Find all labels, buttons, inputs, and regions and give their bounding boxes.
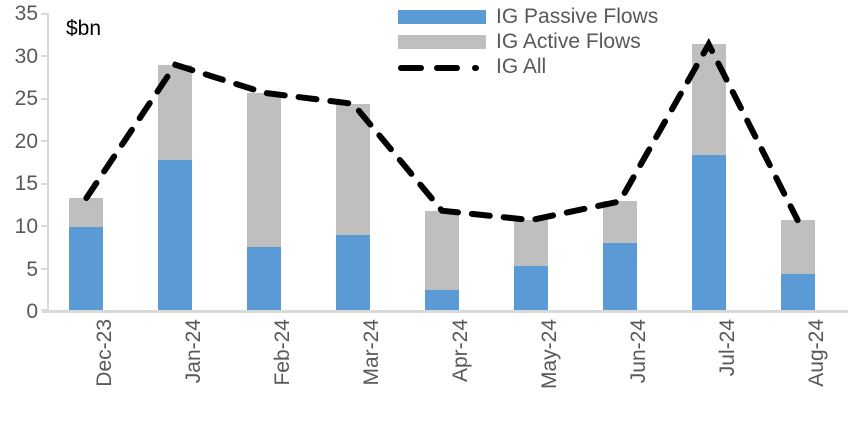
y-axis-tick-10 (41, 225, 48, 227)
x-axis-tick-labels: Dec-23Jan-24Feb-24Mar-24Apr-24May-24Jun-… (48, 313, 848, 417)
y-tick-label-0: 0 (26, 301, 38, 322)
y-tick-label-30: 30 (15, 46, 38, 67)
y-axis-tick-labels: 35 30 25 20 15 10 5 0 (0, 0, 38, 417)
legend-item-passive[interactable]: IG Passive Flows (398, 4, 678, 29)
x-tick-label-may-24: May-24 (539, 319, 560, 439)
x-tick-label-apr-24: Apr-24 (450, 319, 471, 439)
y-axis-tick-15 (41, 183, 48, 185)
y-axis-tick-25 (41, 98, 48, 100)
x-tick-label-jan-24: Jan-24 (183, 319, 204, 439)
legend-swatch-active-icon (398, 35, 486, 49)
y-axis-tick-5 (41, 268, 48, 270)
legend-label-all: IG All (496, 56, 546, 77)
x-tick-label-dec-23: Dec-23 (94, 319, 115, 439)
x-tick-label-aug-24: Aug-24 (806, 319, 827, 439)
legend-item-all[interactable]: IG All (398, 54, 678, 79)
y-axis-tick-35 (41, 13, 48, 15)
y-axis-tick-30 (41, 55, 48, 57)
y-tick-label-5: 5 (26, 259, 38, 280)
x-tick-label-jun-24: Jun-24 (628, 319, 649, 439)
y-tick-label-35: 35 (15, 3, 38, 24)
legend-label-active: IG Active Flows (496, 31, 641, 52)
y-tick-label-20: 20 (15, 131, 38, 152)
y-tick-label-10: 10 (15, 216, 38, 237)
chart-legend: IG Passive Flows IG Active Flows IG All (398, 4, 678, 79)
legend-label-passive: IG Passive Flows (496, 6, 658, 27)
x-tick-label-jul-24: Jul-24 (717, 319, 738, 439)
x-tick-label-mar-24: Mar-24 (361, 319, 382, 439)
legend-item-active[interactable]: IG Active Flows (398, 29, 678, 54)
y-axis-tick-20 (41, 140, 48, 142)
legend-dashed-line-icon (398, 60, 486, 74)
y-axis-tick-0 (41, 309, 48, 311)
chart-container: 35 30 25 20 15 10 5 0 $bn Dec-23Jan-24Fe… (0, 0, 852, 417)
legend-swatch-passive-icon (398, 10, 486, 24)
x-tick-label-feb-24: Feb-24 (272, 319, 293, 439)
y-tick-label-25: 25 (15, 88, 38, 109)
y-tick-label-15: 15 (15, 173, 38, 194)
